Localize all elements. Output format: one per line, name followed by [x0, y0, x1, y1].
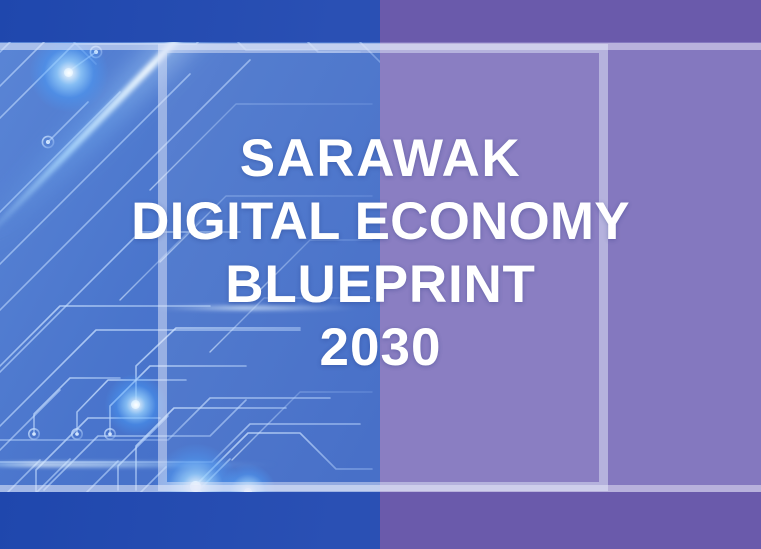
frame-top-arm-purple [380, 43, 761, 50]
bottom-dark-band-purple [380, 492, 761, 549]
frame-bottom-arm-purple [380, 485, 761, 492]
sarawak-digital-economy-blueprint-banner: SARAWAK DIGITAL ECONOMY BLUEPRINT 2030 [0, 0, 761, 549]
purple-color-block-overlay [380, 0, 761, 549]
top-dark-band-purple [380, 0, 761, 42]
